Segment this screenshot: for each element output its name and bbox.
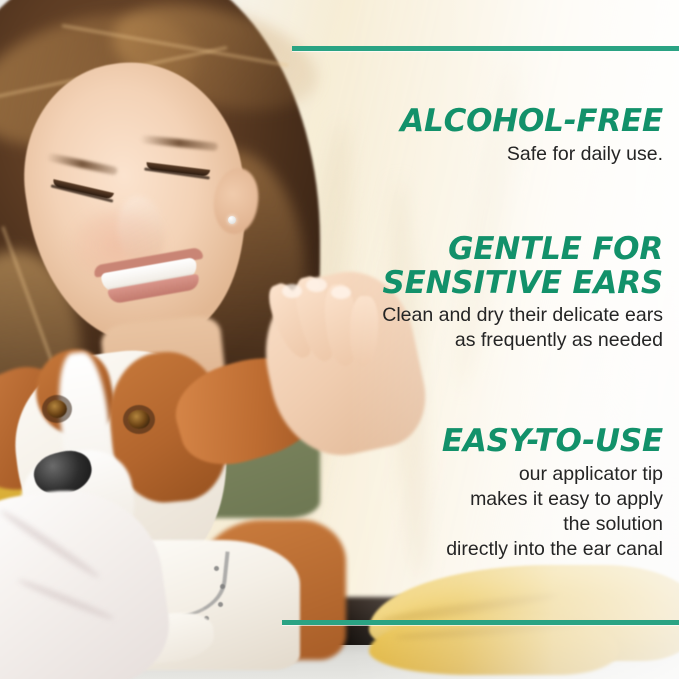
dog-eye xyxy=(128,410,150,429)
benefit-gentle-for-sensitive-ears: GENTLE FOR SENSITIVE EARS Clean and dry … xyxy=(333,232,663,353)
collar-link xyxy=(220,584,225,589)
benefit-subtext: our applicator tip makes it easy to appl… xyxy=(333,462,663,562)
fingernail xyxy=(306,278,327,292)
dog-eye xyxy=(47,400,67,418)
benefit-subtext: Clean and dry their delicate ears as fre… xyxy=(333,303,663,353)
benefit-alcohol-free: ALCOHOL-FREE Safe for daily use. xyxy=(333,104,663,167)
benefit-subtext: Safe for daily use. xyxy=(333,142,663,167)
benefits-text-column: ALCOHOL-FREE Safe for daily use. GENTLE … xyxy=(333,46,663,620)
collar-link xyxy=(218,602,223,607)
earring xyxy=(228,216,236,224)
benefit-headline: EASY-TO-USE xyxy=(333,424,663,459)
benefit-easy-to-use: EASY-TO-USE our applicator tip makes it … xyxy=(333,424,663,562)
fingernail xyxy=(282,284,302,298)
bottom-divider-rule xyxy=(282,620,679,625)
collar-link xyxy=(214,566,219,571)
benefit-headline: ALCOHOL-FREE xyxy=(333,104,663,139)
benefit-headline: GENTLE FOR SENSITIVE EARS xyxy=(333,232,663,300)
benefit-infographic: ALCOHOL-FREE Safe for daily use. GENTLE … xyxy=(0,0,679,679)
